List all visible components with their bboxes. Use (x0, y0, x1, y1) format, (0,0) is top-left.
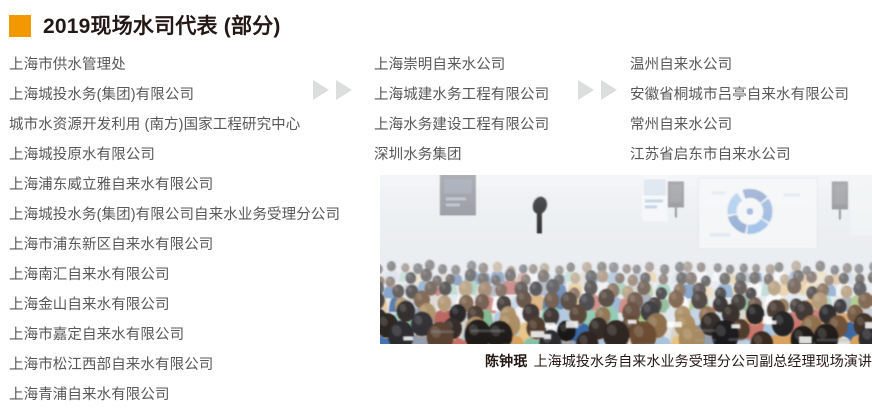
list-item: 江苏省启东市自来水公司 (630, 140, 872, 170)
list-item: 上海青浦自来水有限公司 (9, 380, 339, 410)
page-title: 2019现场水司代表 (部分) (43, 16, 281, 37)
conference-photo (380, 175, 872, 344)
list-item: 安徽省桐城市吕亭自来水有限公司 (630, 80, 872, 110)
triangle-right-icon (336, 80, 352, 100)
arrow-group-1 (313, 80, 352, 100)
triangle-right-icon (578, 80, 594, 100)
caption-speaker-role: 上海城投水务自来水业务受理分公司副总经理现场演讲 (534, 351, 872, 371)
list-item: 上海金山自来水有限公司 (9, 290, 339, 320)
list-item: 上海市嘉定自来水有限公司 (9, 320, 339, 350)
representatives-column-3: 温州自来水公司 安徽省桐城市吕亭自来水有限公司 常州自来水公司 江苏省启东市自来… (630, 50, 872, 170)
arrow-group-2 (578, 80, 617, 100)
triangle-right-icon (313, 80, 329, 100)
list-item: 上海城投水务(集团)有限公司 (9, 80, 339, 110)
list-item: 上海浦东威立雅自来水有限公司 (9, 170, 339, 200)
list-item: 上海崇明自来水公司 (374, 50, 624, 80)
list-item: 上海市浦东新区自来水有限公司 (9, 230, 339, 260)
list-item: 城市水资源开发利用 (南方)国家工程研究中心 (9, 110, 339, 140)
list-item: 上海城投原水有限公司 (9, 140, 339, 170)
list-item: 上海城投水务(集团)有限公司自来水业务受理分公司 (9, 200, 339, 230)
list-item: 上海水务建设工程有限公司 (374, 110, 624, 140)
list-item: 上海市松江西部自来水有限公司 (9, 350, 339, 380)
list-item: 上海南汇自来水有限公司 (9, 260, 339, 290)
list-item: 常州自来水公司 (630, 110, 872, 140)
representatives-column-1: 上海市供水管理处 上海城投水务(集团)有限公司 城市水资源开发利用 (南方)国家… (9, 50, 339, 410)
list-item: 深圳水务集团 (374, 140, 624, 170)
representatives-column-2: 上海崇明自来水公司 上海城建水务工程有限公司 上海水务建设工程有限公司 深圳水务… (374, 50, 624, 170)
orange-square-marker (9, 15, 31, 37)
list-item: 温州自来水公司 (630, 50, 872, 80)
caption-speaker-name: 陈钟珉 (485, 351, 528, 371)
list-item: 上海市供水管理处 (9, 50, 339, 80)
triangle-right-icon (601, 80, 617, 100)
conference-photo-canvas (380, 175, 872, 344)
photo-caption: 陈钟珉 上海城投水务自来水业务受理分公司副总经理现场演讲 (380, 350, 872, 372)
section-header: 2019现场水司代表 (部分) (0, 8, 872, 44)
